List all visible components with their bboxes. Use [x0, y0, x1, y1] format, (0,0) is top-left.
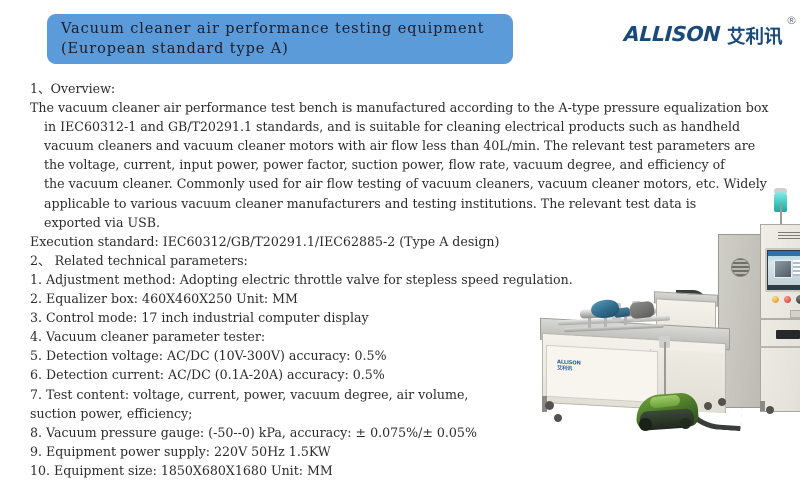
spec-line-4: vacuum cleaners and vacuum cleaner motor… — [30, 136, 782, 155]
cabinet-nameplate — [790, 310, 800, 318]
spec-line-6: the vacuum cleaner. Commonly used for ai… — [30, 174, 782, 193]
cabinet-seam-upper — [760, 318, 800, 320]
spec-line-3: in IEC60312-1 and GB/T20291.1 standards,… — [30, 117, 782, 136]
spec-line-1: 1、Overview: — [30, 79, 782, 98]
indicator-lamp-amber — [772, 296, 779, 303]
cabinet-vent-icon — [731, 258, 750, 277]
cabinet-slot — [776, 330, 800, 339]
registered-trademark-icon: ® — [786, 14, 797, 27]
display-title-bar — [768, 251, 800, 256]
cabinet-label — [778, 232, 800, 239]
cabinet-foot-left — [760, 401, 765, 411]
company-logo: ALLISON 艾利讯 ® — [624, 22, 794, 56]
caster-wheel — [545, 401, 554, 410]
indicator-lamp-red — [784, 296, 791, 303]
spec-line-2: The vacuum cleaner air performance test … — [30, 98, 782, 117]
throttle-valve-motor — [629, 301, 655, 319]
caster-wheel — [766, 406, 774, 414]
spec-line-21: 10. Equipment size: 1850X680X1680 Unit: … — [30, 461, 782, 480]
equipment-photo: ALLISON 艾利讯 — [528, 196, 800, 450]
vacuum-cleaner-wheel-front — [639, 418, 652, 431]
emergency-stop-button — [796, 295, 800, 304]
bench-brand-label: ALLISON 艾利讯 — [557, 359, 581, 372]
spec-line-5: the voltage, current, input power, power… — [30, 155, 782, 174]
page-title-box: Vacuum cleaner air performance testing e… — [47, 14, 513, 64]
vacuum-cleaner-wheel-rear — [680, 418, 691, 429]
caster-wheel — [704, 402, 712, 410]
page-title-line-2: (European standard type A) — [61, 39, 513, 59]
caster-wheel — [554, 414, 562, 422]
test-bench-front-panel — [546, 345, 658, 403]
logo-text-en: ALLISON — [623, 22, 720, 46]
display-preview-image — [774, 260, 792, 278]
caster-wheel — [718, 398, 726, 406]
page-title-line-1: Vacuum cleaner air performance testing e… — [61, 19, 513, 39]
logo-text-cn: 艾利讯 — [727, 23, 783, 49]
page-header: Vacuum cleaner air performance testing e… — [0, 0, 800, 78]
display-data-rows — [793, 260, 800, 276]
cabinet-seam-lower — [760, 346, 800, 348]
